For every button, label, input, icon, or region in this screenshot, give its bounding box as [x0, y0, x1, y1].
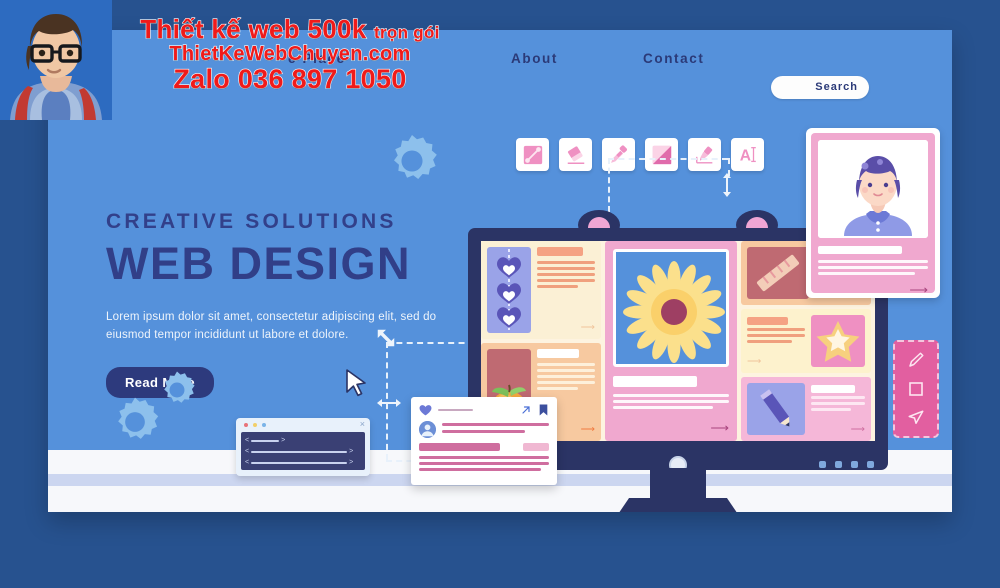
gear-icon-bottom-right [155, 368, 199, 412]
watermark-line-3: Zalo 036 897 1050 [100, 64, 480, 95]
share-arrow-icon[interactable] [520, 404, 532, 416]
popup-card-lines-top [442, 421, 549, 433]
card-pencil-arrow-icon[interactable]: ⟶ [811, 425, 865, 435]
node-line-tool-icon[interactable] [516, 138, 549, 171]
female-avatar-illustration [818, 140, 928, 238]
search-button-label: Search [815, 81, 858, 93]
popup-card-header [411, 397, 557, 421]
guide-line-top [608, 158, 728, 160]
page-title: WEB DESIGN [106, 240, 506, 287]
cursor-arrow-icon[interactable] [905, 407, 927, 429]
card-sunflower-text-lines [613, 394, 729, 409]
pencil-icon[interactable] [905, 349, 927, 371]
resize-vertical-icon [720, 172, 734, 203]
screenshot-root: e Place About Contact Search CREATIVE SO… [0, 0, 1000, 588]
tool-palette: A [516, 138, 764, 171]
landing-page-card: e Place About Contact Search CREATIVE SO… [48, 30, 952, 512]
resize-diagonal-icon [375, 327, 397, 354]
text-tool-icon[interactable]: A [731, 138, 764, 171]
ruler-thumb [747, 247, 809, 299]
card-star[interactable]: ⟶ [741, 309, 871, 373]
code-line: <> [245, 459, 361, 466]
heart-icon[interactable] [419, 404, 432, 416]
monitor-base [610, 498, 746, 512]
popup-card-body [411, 421, 557, 471]
card-pencil[interactable]: ⟶ [741, 377, 871, 441]
code-line: <> [245, 448, 361, 455]
user-avatar-icon [419, 421, 436, 438]
watermark-photo [0, 0, 112, 120]
search-button[interactable]: Search [771, 76, 869, 99]
monitor-control-dots [819, 461, 874, 468]
code-window-body: <> <> <> [241, 432, 365, 470]
svg-text:A: A [739, 147, 750, 164]
hero-kicker: CREATIVE SOLUTIONS [106, 210, 506, 234]
card-sunflower-arrow-icon[interactable]: ⟶ [613, 421, 729, 434]
watermark-line-1: Thiết kế web 500k trọn gói [100, 14, 480, 45]
popup-card-lines-bottom [419, 456, 549, 471]
marker-pen-tool-icon[interactable] [688, 138, 721, 171]
bookmark-flag-icon[interactable] [538, 404, 549, 416]
card-sunflower[interactable]: ⟶ [605, 241, 737, 441]
gradient-fill-tool-icon[interactable] [645, 138, 678, 171]
watermark-text: Thiết kế web 500k trọn gói ThietKeWebChu… [100, 14, 480, 95]
card-hearts-arrow-icon[interactable]: ⟶ [537, 323, 595, 333]
popup-post-card[interactable] [411, 397, 557, 485]
profile-card[interactable]: ⟶ [806, 128, 940, 298]
card-star-arrow-icon[interactable]: ⟶ [747, 357, 805, 367]
profile-card-text-lines [818, 260, 928, 275]
card-peach-text-lines [537, 363, 595, 390]
window-dot-yellow[interactable] [253, 423, 257, 427]
close-icon[interactable]: × [360, 419, 365, 429]
eyedropper-tool-icon[interactable] [602, 138, 635, 171]
eraser-tool-icon[interactable] [559, 138, 592, 171]
card-hearts[interactable]: ⟶ [481, 241, 601, 339]
window-dot-blue[interactable] [262, 423, 266, 427]
star-badge-thumb [811, 315, 865, 367]
guide-line-top-vertical [608, 158, 610, 212]
screen-column-center: ⟶ [605, 241, 737, 441]
gear-icon-large-top [381, 130, 443, 192]
code-editor-window[interactable]: × <> <> <> [236, 418, 370, 476]
card-hearts-text-lines [537, 261, 595, 288]
profile-card-arrow-icon[interactable]: ⟶ [818, 283, 928, 296]
window-dot-red[interactable] [244, 423, 248, 427]
mouse-cursor-icon[interactable] [344, 368, 370, 403]
code-line: <> [245, 437, 361, 444]
sunflower-photo-thumb [613, 249, 729, 367]
resize-horizontal-icon [376, 396, 402, 415]
pencil-thumb [747, 383, 805, 435]
watermark-line-2: ThietKeWebChuyen.com [100, 43, 480, 66]
hearts-chain-thumb [487, 247, 531, 333]
square-shape-icon[interactable] [905, 378, 927, 400]
nav-item-about[interactable]: About [511, 51, 558, 66]
nav-item-contact[interactable]: Contact [643, 51, 704, 66]
code-window-titlebar: × [236, 418, 370, 431]
vertical-toolbar [893, 340, 939, 438]
